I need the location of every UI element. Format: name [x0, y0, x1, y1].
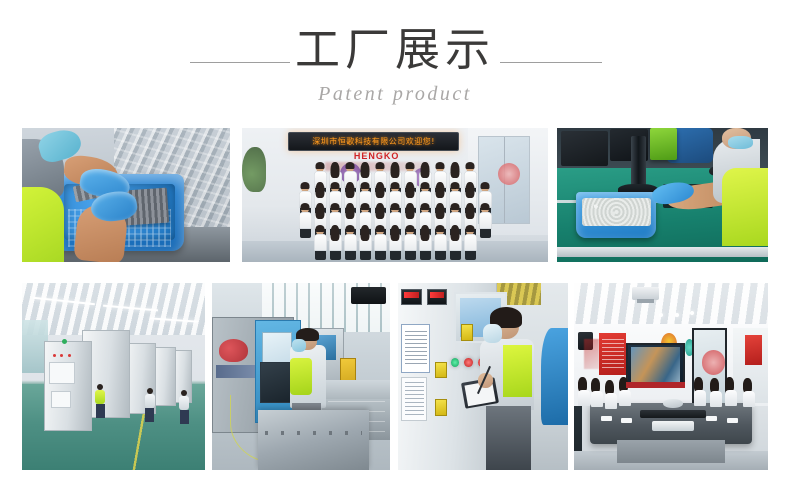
- photo-gallery: HENGKO 深圳市恒歌科技有限公司欢迎您!: [0, 0, 790, 500]
- staff-hair: [466, 182, 475, 198]
- wall-calligraphy: [584, 339, 600, 369]
- blue-basket: [576, 192, 656, 238]
- attendee-right-3: [725, 377, 737, 406]
- staff-white-shirt: [464, 234, 477, 251]
- ceiling-spotlight-2: [675, 313, 679, 317]
- staff-member: [344, 226, 357, 260]
- staff-trousers: [390, 251, 401, 260]
- honour-poster-left: [599, 333, 626, 374]
- staff-trousers: [360, 251, 371, 260]
- conference-table-base: [617, 440, 726, 462]
- photo-microscope-inspection[interactable]: [557, 128, 768, 262]
- honour-poster-right: [745, 335, 762, 365]
- notepad-2: [621, 418, 632, 423]
- staff-hair: [406, 162, 415, 169]
- attendee-left-2: [591, 378, 603, 407]
- staff-trousers: [450, 251, 461, 260]
- led-welcome-banner: 深圳市恒歌科技有限公司欢迎您!: [288, 132, 459, 151]
- worker-head: [181, 390, 187, 396]
- staff-member: [404, 226, 417, 260]
- staff-white-shirt: [404, 234, 417, 251]
- staff-hair: [466, 162, 475, 169]
- staff-hair: [346, 203, 355, 219]
- staff-white-shirt: [344, 234, 357, 251]
- staff-hair: [391, 182, 400, 189]
- photo-quality-inspection[interactable]: [398, 283, 568, 470]
- staff-hair: [301, 203, 310, 210]
- face-mask: [483, 324, 502, 343]
- staff-hair: [421, 182, 430, 189]
- wall-logo: HENGKO: [331, 151, 423, 162]
- worker-shirt: [179, 396, 189, 410]
- staff-member: [314, 226, 327, 260]
- machine-document-holder: [51, 391, 71, 408]
- staff-hair: [421, 162, 430, 178]
- staff-hair: [391, 225, 400, 241]
- staff-hair: [466, 225, 475, 232]
- digital-meter-2: [427, 289, 447, 306]
- staff-hair: [346, 225, 355, 232]
- staff-hair: [316, 162, 325, 169]
- staff-hair: [391, 162, 400, 178]
- display-banner-strip: [626, 382, 684, 388]
- table-cable-trough: [640, 410, 706, 417]
- staff-white-shirt: [314, 234, 327, 251]
- staff-trousers: [375, 251, 386, 260]
- worker-3: [179, 390, 189, 424]
- staff-hair: [391, 203, 400, 210]
- worker-2: [145, 388, 155, 422]
- attendee-shirt: [694, 390, 706, 406]
- worker-head: [147, 388, 153, 394]
- staff-hair: [316, 225, 325, 232]
- attendee-shirt: [743, 391, 755, 407]
- notepad-3: [706, 416, 717, 421]
- posted-checklist: [401, 377, 427, 422]
- staff-hair: [346, 182, 355, 198]
- posted-procedure-sheet: [401, 324, 430, 373]
- warning-label-2: [435, 399, 447, 416]
- staff-hair: [331, 225, 340, 241]
- notepad-1: [601, 416, 612, 421]
- warning-label-3: [461, 324, 473, 341]
- notepad-4: [727, 418, 738, 423]
- photo-cnc-operator[interactable]: [212, 283, 390, 470]
- staff-member: [374, 226, 387, 260]
- machine-control-panel: [49, 362, 75, 384]
- machine-brand-text: [216, 365, 255, 378]
- face-mask: [292, 339, 306, 352]
- face-mask: [728, 136, 753, 149]
- factory-ceiling: [22, 283, 205, 335]
- attendee-shirt: [725, 390, 737, 406]
- attendee-shirt: [591, 391, 603, 407]
- staff-hair: [451, 203, 460, 210]
- worker-legs: [96, 404, 105, 418]
- staff-hair: [451, 182, 460, 189]
- monitor-left: [561, 131, 607, 166]
- attendee-right-1: [694, 377, 706, 406]
- microscope-column: [631, 136, 646, 190]
- staff-trousers: [405, 251, 416, 260]
- staff-rows: [242, 163, 548, 262]
- staff-hair: [361, 162, 370, 178]
- warning-label-1: [435, 362, 447, 379]
- indicator-lamp-red-1: [464, 358, 473, 367]
- staff-trousers: [330, 251, 341, 260]
- staff-hair: [451, 162, 460, 178]
- staff-hair: [331, 162, 340, 178]
- photo-assembly-sorting[interactable]: [22, 128, 230, 262]
- staff-member: [449, 226, 462, 260]
- staff-hair: [376, 203, 385, 219]
- vision-camera-housing: [650, 128, 677, 160]
- indicator-lamp-red-3: [68, 354, 71, 357]
- staff-white-shirt: [434, 234, 447, 251]
- staff-white-shirt: [374, 234, 387, 251]
- worker-legs: [180, 410, 189, 424]
- staff-trousers: [435, 251, 446, 260]
- ceiling-projector: [632, 287, 659, 300]
- staff-hair: [436, 225, 445, 232]
- attendee-shirt: [619, 390, 631, 406]
- worker-legs: [145, 408, 154, 422]
- blue-machine-housing: [541, 328, 568, 425]
- attendee-left-1: [578, 377, 590, 406]
- operator-vest: [722, 168, 768, 246]
- staff-hair: [466, 203, 475, 219]
- inspector-vest: [503, 345, 532, 397]
- photo-production-line[interactable]: [22, 283, 205, 470]
- attendee-right-4: [743, 378, 755, 407]
- staff-member: [419, 226, 432, 260]
- staff-hair: [451, 225, 460, 241]
- keyboard: [652, 421, 695, 430]
- attendee-shirt: [578, 390, 590, 406]
- wall-logo-text: HENGKO: [354, 151, 400, 161]
- photo-company-group[interactable]: HENGKO 深圳市恒歌科技有限公司欢迎您!: [242, 128, 548, 262]
- staff-member: [389, 226, 402, 260]
- staff-hair: [421, 203, 430, 210]
- attendee-right-2: [710, 378, 722, 407]
- door-seal-emblem: [702, 350, 725, 374]
- attendee-shirt: [710, 391, 722, 407]
- inspector-trousers: [486, 406, 530, 470]
- staff-hair: [301, 182, 310, 189]
- attendee-left-3: [605, 380, 617, 409]
- led-banner-text: 深圳市恒歌科技有限公司欢迎您!: [312, 136, 435, 147]
- staff-hair: [361, 225, 370, 241]
- staff-trousers: [420, 251, 431, 260]
- bench-edge: [557, 247, 768, 256]
- staff-member: [329, 226, 342, 260]
- staff-trousers: [315, 251, 326, 260]
- steel-workpiece: [258, 410, 368, 470]
- staff-hair: [481, 203, 490, 210]
- staff-hair: [331, 203, 340, 210]
- staff-trousers: [345, 251, 356, 260]
- staff-hair: [406, 182, 415, 198]
- staff-hair: [316, 182, 325, 198]
- staff-hair: [421, 225, 430, 241]
- staff-hair: [406, 203, 415, 219]
- staff-hair: [436, 162, 445, 169]
- staff-hair: [481, 182, 490, 189]
- staff-hair: [361, 182, 370, 189]
- staff-hair: [436, 182, 445, 198]
- worker-shirt: [145, 394, 155, 408]
- photo-meeting-room[interactable]: [574, 283, 768, 470]
- staff-trousers: [465, 251, 476, 260]
- staff-hair: [436, 203, 445, 219]
- staff-row-front: [242, 226, 548, 260]
- staff-hair: [406, 225, 415, 232]
- worker-vest: [22, 187, 64, 262]
- staff-member: [434, 226, 447, 260]
- operator-vest: [290, 358, 311, 395]
- staff-hair: [361, 203, 370, 210]
- wall-display-screen: [626, 343, 684, 388]
- staff-hair: [376, 225, 385, 232]
- staff-hair: [376, 162, 385, 169]
- worker-vest: [95, 390, 105, 404]
- staff-hair: [376, 182, 385, 198]
- worker-1: [95, 384, 105, 418]
- staff-hair: [331, 182, 340, 189]
- digital-meter-1: [401, 289, 421, 306]
- staff-member: [359, 226, 372, 260]
- attendee-shirt: [605, 393, 617, 409]
- staff-hair: [316, 203, 325, 219]
- staff-member: [464, 226, 477, 260]
- attendee-left-4: [619, 377, 631, 406]
- staff-hair: [346, 162, 355, 169]
- factory-showcase-page: 工厂展示 Patent product: [0, 0, 790, 500]
- conference-speakerphone: [663, 399, 682, 408]
- machine-brand-logo: [219, 339, 247, 361]
- wall-sign: [351, 287, 387, 304]
